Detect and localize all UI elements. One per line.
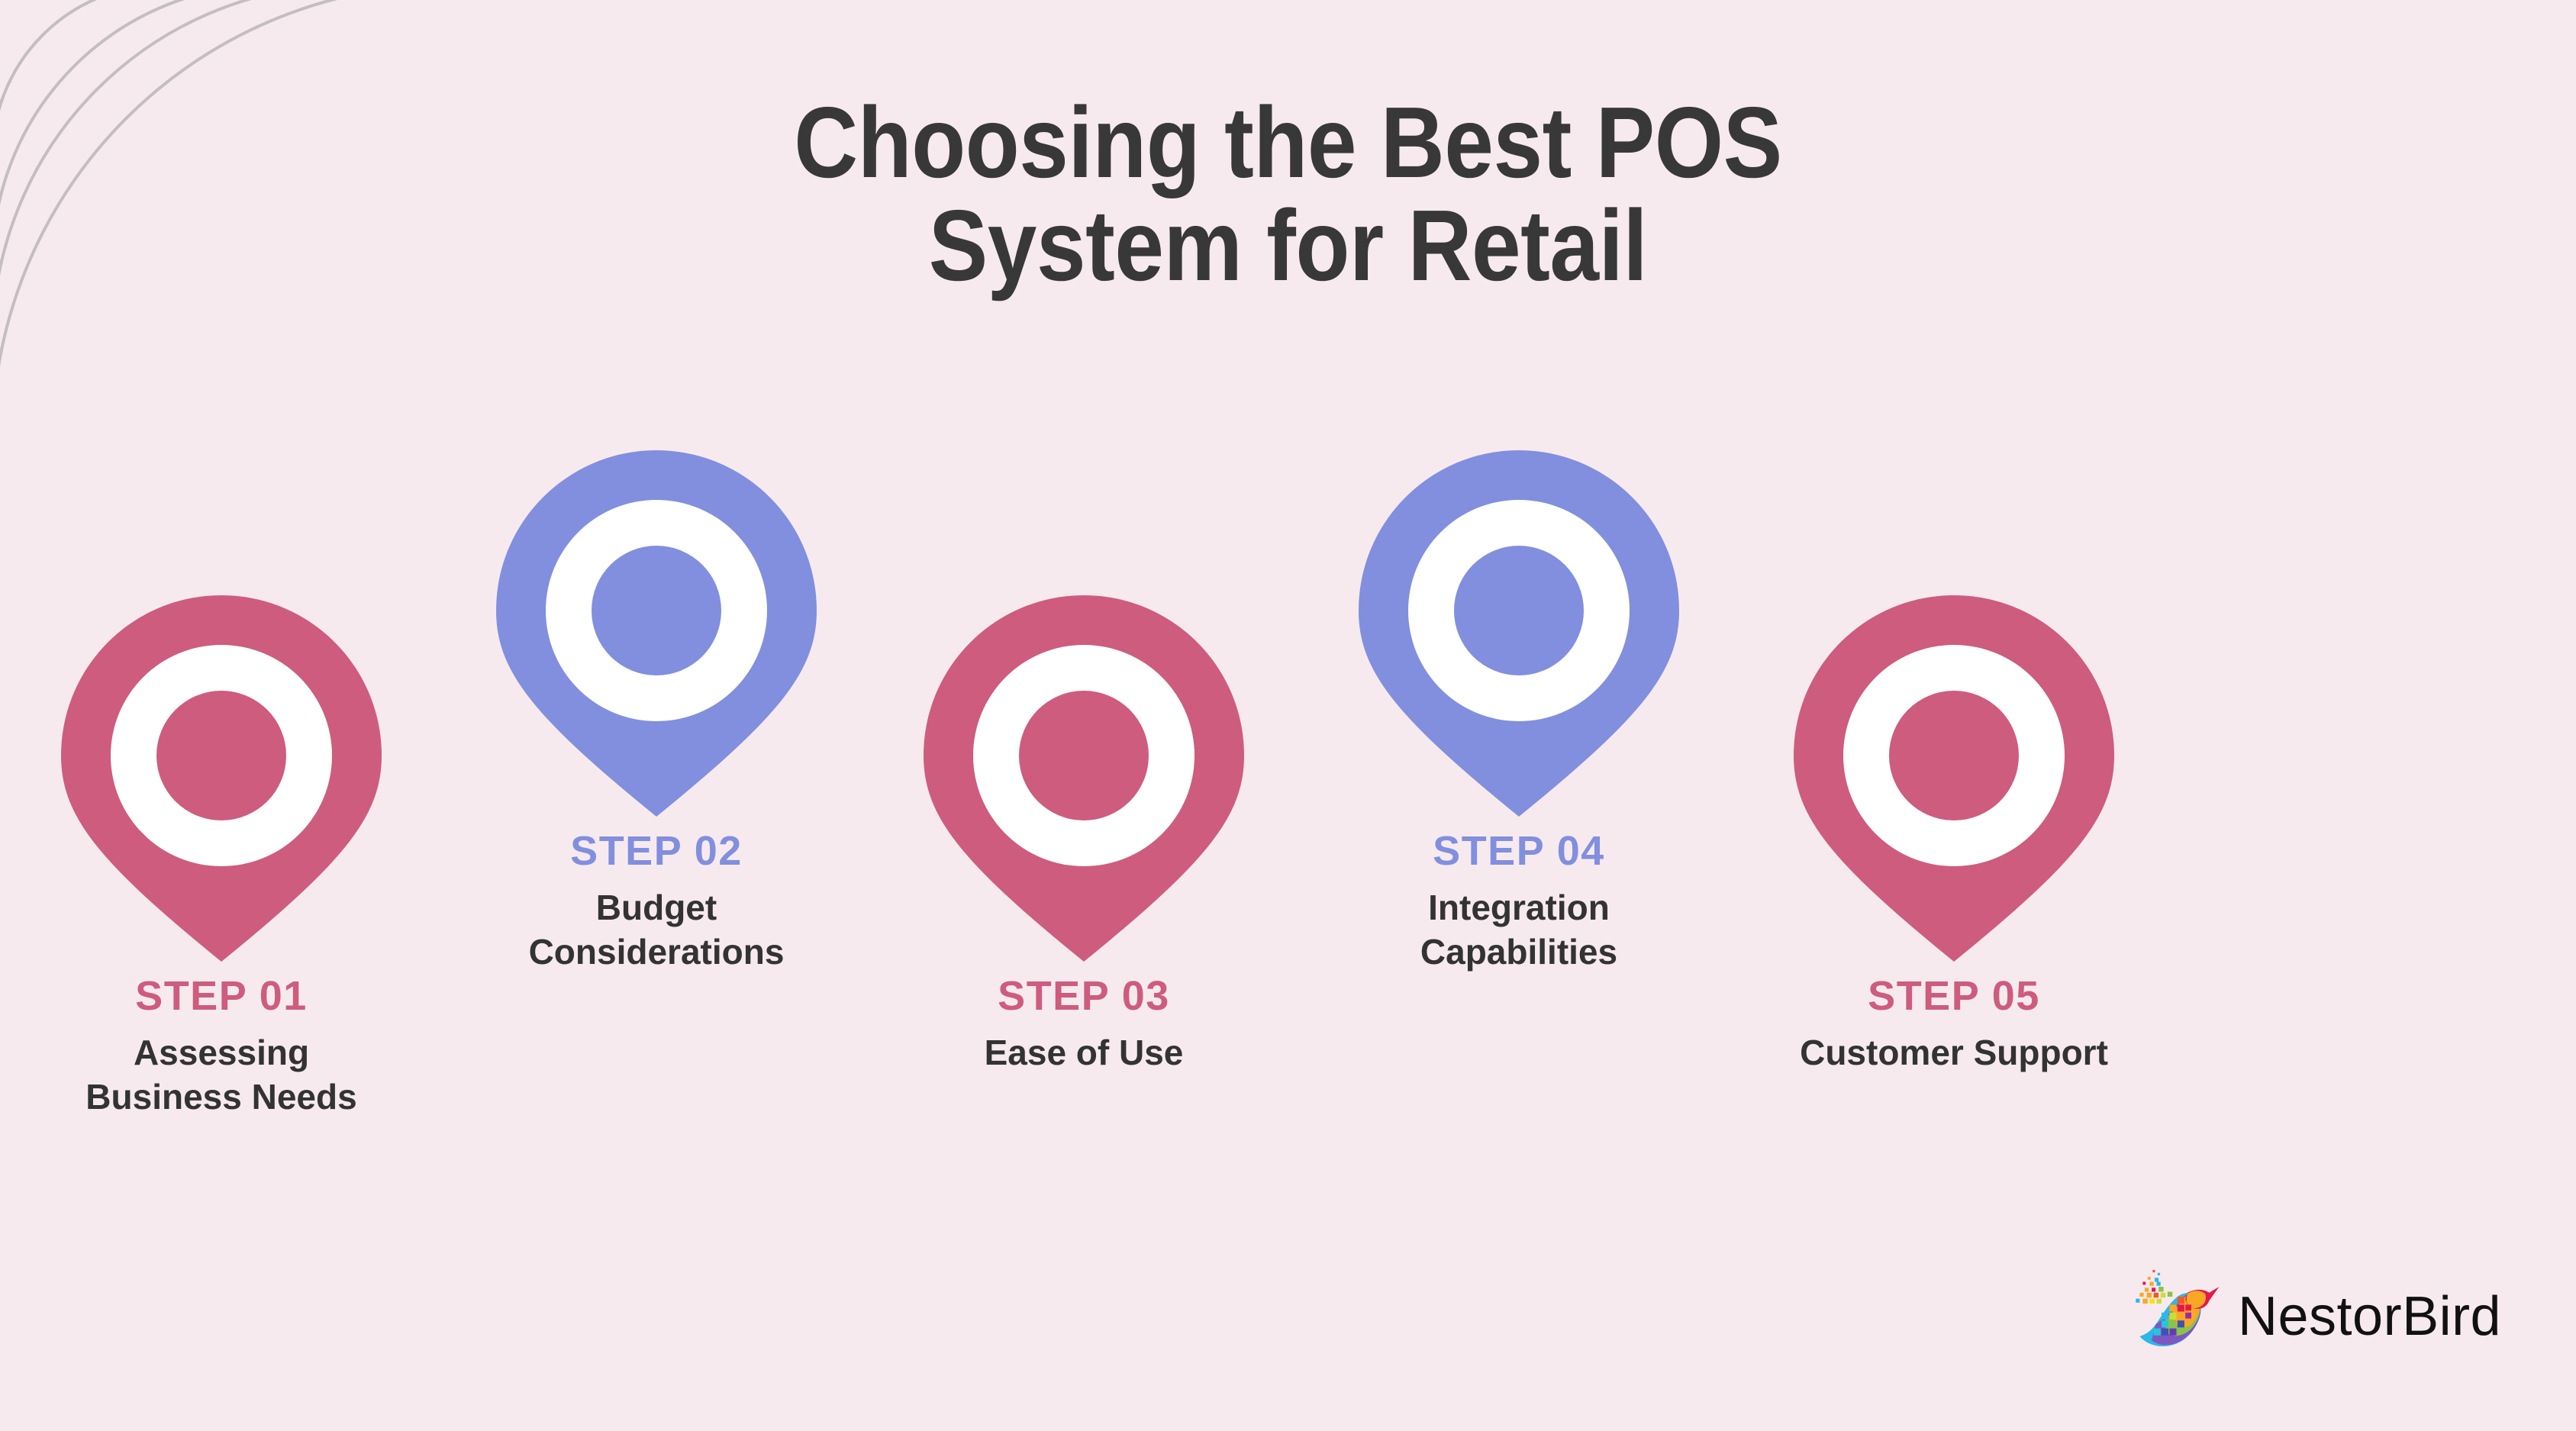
step-item-1[interactable]: STEP 01 Assessing Business Needs xyxy=(23,588,420,1119)
step-item-2[interactable]: STEP 02 Budget Considerations xyxy=(458,443,855,974)
map-pin-icon xyxy=(1786,588,2122,969)
step-label-3: STEP 03 xyxy=(885,974,1282,1019)
step-marker-4 xyxy=(1351,443,1687,824)
steps-container: STEP 01 Assessing Business Needs STEP 02… xyxy=(0,0,2576,1431)
step-description-3: Ease of Use xyxy=(885,1031,1282,1075)
logo-wordmark: NestorBird xyxy=(2238,1285,2501,1348)
step-description-2: Budget Considerations xyxy=(458,886,855,974)
map-pin-icon xyxy=(916,588,1252,969)
step-label-2: STEP 02 xyxy=(458,829,855,874)
step-label-1: STEP 01 xyxy=(23,974,420,1019)
step-item-4[interactable]: STEP 04 Integration Capabilities xyxy=(1320,443,1717,974)
infographic-canvas: Choosing the Best POS System for Retail … xyxy=(0,0,2576,1431)
step-marker-1 xyxy=(53,588,389,969)
step-description-4: Integration Capabilities xyxy=(1320,886,1717,974)
step-marker-2 xyxy=(488,443,824,824)
pixel-bird-logo-icon xyxy=(2122,1267,2221,1366)
map-pin-icon xyxy=(1351,443,1687,824)
step-label-4: STEP 04 xyxy=(1320,829,1717,874)
step-marker-3 xyxy=(916,588,1252,969)
map-pin-icon xyxy=(488,443,824,824)
map-pin-icon xyxy=(53,588,389,969)
step-description-1: Assessing Business Needs xyxy=(23,1031,420,1119)
step-marker-5 xyxy=(1786,588,2122,969)
step-label-5: STEP 05 xyxy=(1755,974,2152,1019)
step-item-3[interactable]: STEP 03 Ease of Use xyxy=(885,588,1282,1075)
step-description-5: Customer Support xyxy=(1755,1031,2152,1075)
step-item-5[interactable]: STEP 05 Customer Support xyxy=(1755,588,2152,1075)
brand-logo[interactable]: NestorBird xyxy=(2122,1267,2501,1366)
